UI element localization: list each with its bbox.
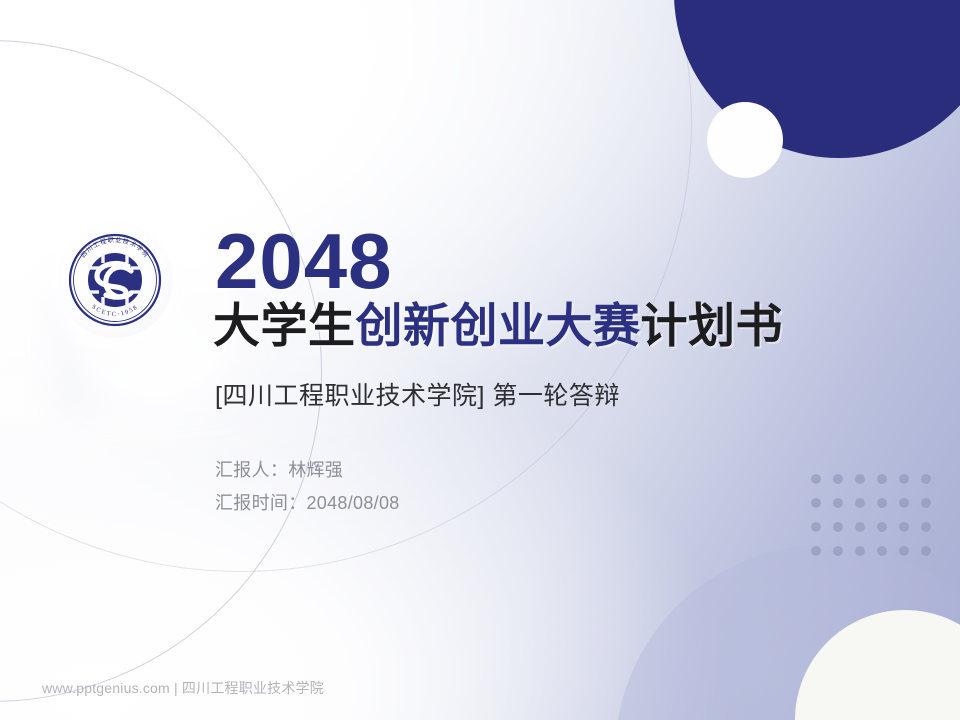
- university-logo: 四川工程职业技术学院 SCETC·1958: [57, 222, 173, 338]
- grid-dot: [811, 546, 821, 556]
- presenter-name: 汇报人：林辉强: [215, 456, 913, 482]
- title-part-3: 计划书: [641, 299, 784, 352]
- grid-dot: [877, 522, 887, 532]
- scetc-emblem-icon: 四川工程职业技术学院 SCETC·1958: [57, 222, 173, 338]
- grid-dot: [899, 546, 909, 556]
- title-part-1: 大学生: [213, 299, 356, 352]
- grid-dot: [811, 522, 821, 532]
- grid-dot: [921, 474, 931, 484]
- footer-credit: www.pptgenius.com | 四川工程职业技术学院: [42, 678, 324, 698]
- title-text-block: 2048 大学生创新创业大赛计划书 [四川工程职业技术学院] 第一轮答辩 汇报人…: [213, 224, 913, 522]
- grid-dot: [855, 522, 865, 532]
- presentation-slide: 四川工程职业技术学院 SCETC·1958 2048 大学生创新创业大赛计划书 …: [0, 0, 960, 720]
- grid-dot: [877, 546, 887, 556]
- grid-dot: [921, 522, 931, 532]
- page-title: 大学生创新创业大赛计划书: [213, 301, 913, 352]
- grid-dot: [899, 522, 909, 532]
- grid-dot: [855, 546, 865, 556]
- year-heading: 2048: [215, 224, 913, 299]
- presentation-date: 汇报时间：2048/08/08: [215, 489, 913, 515]
- grid-dot: [921, 498, 931, 508]
- title-part-2: 创新创业大赛: [356, 299, 641, 352]
- white-circle-top-right: [707, 102, 783, 178]
- grid-dot: [833, 522, 843, 532]
- grid-dot: [833, 546, 843, 556]
- subtitle: [四川工程职业技术学院] 第一轮答辩: [215, 376, 913, 412]
- presenter-meta-block: 汇报人：林辉强 汇报时间：2048/08/08: [215, 456, 913, 515]
- grid-dot: [921, 546, 931, 556]
